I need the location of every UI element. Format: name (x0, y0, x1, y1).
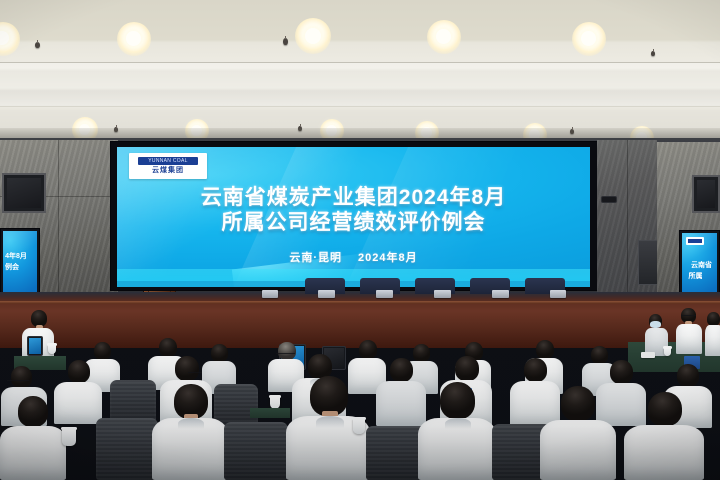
audience-area (0, 300, 720, 480)
side-monitor-left-screen: 4年8月 例会 (3, 231, 37, 295)
sprinkler-head (651, 51, 655, 56)
company-logo: YUNNAN COAL 云煤集团 (129, 153, 207, 179)
paper-cup (664, 347, 671, 356)
attendee (0, 396, 66, 480)
wall-speaker (601, 196, 617, 203)
paper-sheet (641, 352, 655, 358)
rostrum-nameplate (262, 290, 278, 298)
chair (96, 418, 158, 480)
slide-title: 云南省煤炭产业集团2024年8月 所属公司经营绩效评价例会 (117, 185, 590, 235)
slide-subtitle-city: 云南·昆明 (289, 252, 342, 264)
rostrum-nameplate (434, 290, 451, 298)
conference-room-photo: 4年8月 例会 YUNNAN COAL 云煤集团 云南省煤炭产业集团2024年8… (0, 0, 720, 480)
chair (224, 422, 288, 480)
ceiling (0, 0, 720, 142)
wall-monitor-off-left (2, 173, 46, 213)
attendee (705, 312, 720, 356)
side-monitor-right: 云南省 所属 (679, 230, 720, 298)
rostrum-nameplate (550, 290, 566, 298)
side-monitor-left-line2: 例会 (3, 262, 29, 272)
rostrum-nameplate (376, 290, 393, 298)
laptop[interactable] (27, 336, 43, 356)
side-monitor-right-line1: 云南省 (684, 260, 717, 270)
slide-subtitle-date: 2024年8月 (358, 252, 418, 264)
slide-bottom-edge (117, 281, 590, 287)
attendee (540, 386, 616, 480)
desk-row (250, 408, 290, 418)
side-monitor-right-logo (686, 237, 704, 245)
rostrum-nameplate (492, 290, 509, 298)
paper-cup (48, 344, 56, 354)
presentation-slide: YUNNAN COAL 云煤集团 云南省煤炭产业集团2024年8月 所属公司经营… (117, 147, 590, 287)
attendee (624, 392, 704, 480)
side-monitor-left-line1: 4年8月 (3, 251, 33, 261)
rostrum-nameplate (318, 290, 335, 298)
company-logo-cn-text: 云煤集团 (152, 167, 184, 175)
slide-subtitle: 云南·昆明2024年8月 (117, 249, 590, 265)
sprinkler-head (283, 38, 288, 45)
sprinkler-head (35, 42, 40, 48)
face-mask (650, 321, 661, 328)
attendee (418, 382, 496, 480)
side-monitor-right-screen: 云南省 所属 (682, 233, 717, 295)
slide-title-line2: 所属公司经营绩效评价例会 (117, 210, 590, 235)
led-video-wall: YUNNAN COAL 云煤集团 云南省煤炭产业集团2024年8月 所属公司经营… (111, 142, 597, 290)
slide-title-line1: 云南省煤炭产业集团2024年8月 (117, 185, 590, 210)
side-monitor-right-line2: 所属 (682, 271, 713, 281)
attendee (676, 308, 702, 354)
attendee (152, 384, 228, 480)
paper-cup (62, 428, 76, 446)
side-monitor-left: 4年8月 例会 (0, 228, 40, 298)
paper-cup (353, 418, 365, 434)
wall-monitor-off-right (692, 175, 720, 213)
company-logo-latin-text: YUNNAN COAL (138, 157, 198, 165)
